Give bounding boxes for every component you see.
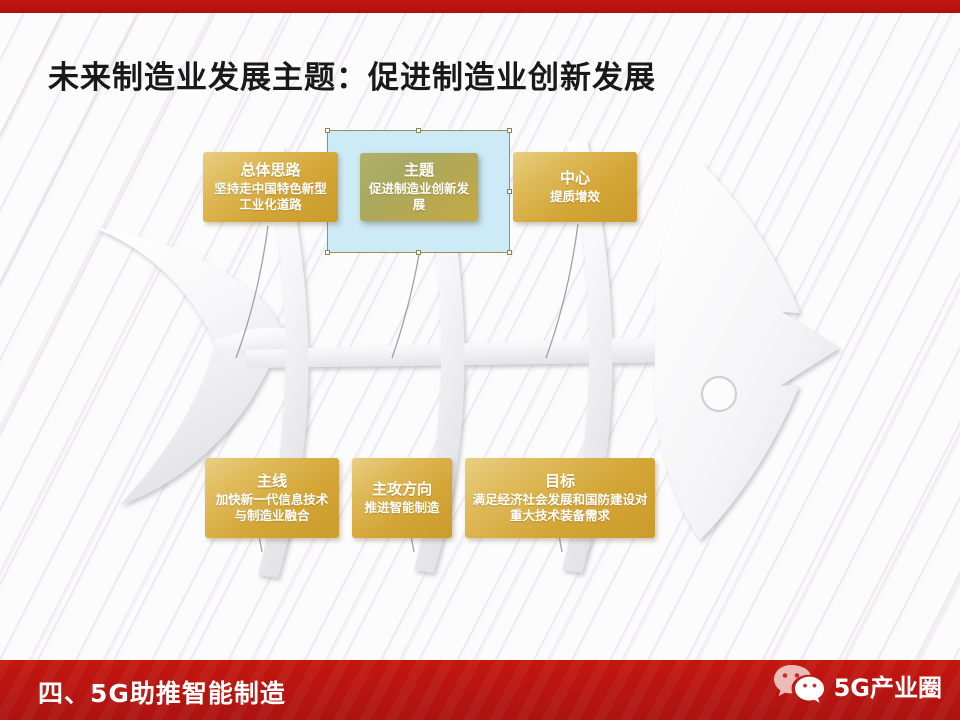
box-overall-approach-head: 总体思路 (240, 161, 300, 180)
resize-handle-top-center[interactable] (416, 128, 421, 133)
leader-line-overall-approach (236, 226, 268, 358)
leader-line-center (546, 224, 578, 358)
box-main-direction-body: 推进智能制造 (364, 500, 439, 516)
slide-canvas: 未来制造业发展主题：促进制造业创新发展 (0, 0, 960, 720)
brand-name: 5G产业圈 (834, 668, 942, 703)
slide-title: 未来制造业发展主题：促进制造业创新发展 (48, 52, 656, 97)
resize-handle-bottom-left[interactable] (325, 250, 330, 255)
box-main-line[interactable]: 主线 加快新一代信息技术与制造业融合 (205, 458, 339, 538)
box-main-line-body: 加快新一代信息技术与制造业融合 (211, 492, 333, 524)
resize-handle-middle-right[interactable] (507, 189, 512, 194)
box-center[interactable]: 中心 提质增效 (513, 152, 637, 222)
box-goal-body: 满足经济社会发展和国防建设对重大技术装备需求 (471, 492, 649, 524)
box-main-line-head: 主线 (257, 472, 287, 491)
box-overall-approach-body: 坚持走中国特色新型工业化道路 (209, 181, 332, 213)
box-theme-head: 主题 (404, 161, 434, 180)
box-goal[interactable]: 目标 满足经济社会发展和国防建设对重大技术装备需求 (465, 458, 655, 538)
box-main-direction-head: 主攻方向 (372, 480, 432, 499)
wechat-icon (772, 663, 826, 707)
resize-handle-bottom-right[interactable] (507, 250, 512, 255)
resize-handle-top-right[interactable] (507, 128, 512, 133)
footer-section-title: 四、5G助推智能制造 (38, 674, 286, 710)
resize-handle-top-left[interactable] (325, 128, 330, 133)
resize-handle-bottom-center[interactable] (416, 250, 421, 255)
box-goal-head: 目标 (545, 472, 575, 491)
brand-block: 5G产业圈 (772, 663, 942, 707)
top-accent-bar (0, 0, 960, 13)
box-overall-approach[interactable]: 总体思路 坚持走中国特色新型工业化道路 (203, 152, 338, 222)
box-center-body: 提质增效 (550, 189, 600, 205)
box-theme[interactable]: 主题 促进制造业创新发展 (360, 153, 478, 221)
box-theme-body: 促进制造业创新发展 (366, 181, 472, 213)
box-center-head: 中心 (560, 169, 590, 188)
box-main-direction[interactable]: 主攻方向 推进智能制造 (352, 458, 452, 538)
